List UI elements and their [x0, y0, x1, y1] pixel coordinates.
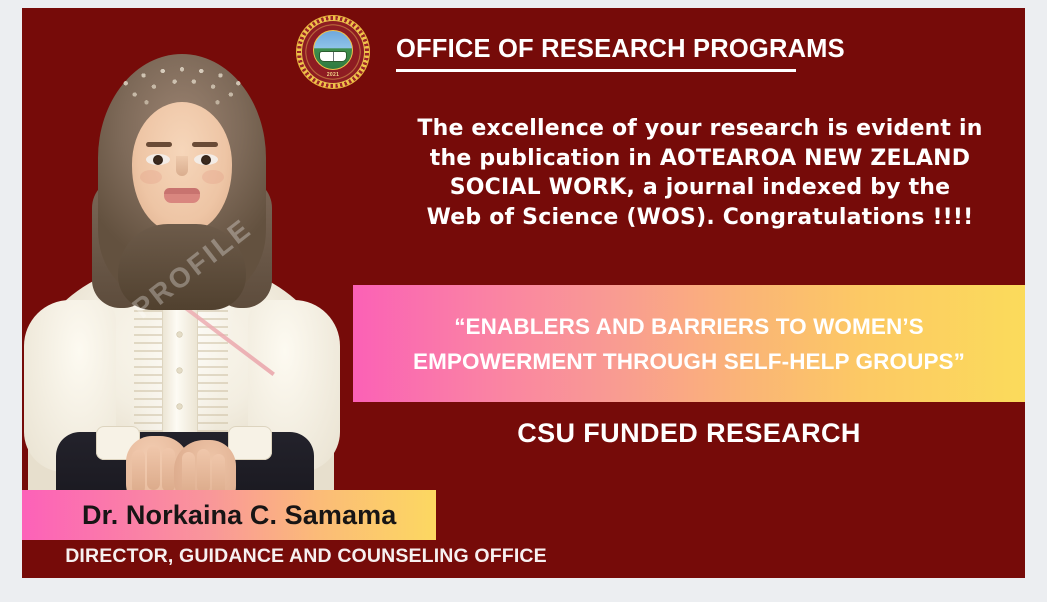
- cheek-left: [140, 170, 162, 184]
- poster-header: 2021 OFFICE OF RESEARCH PROGRAMS: [296, 12, 916, 92]
- honoree-role: DIRECTOR, GUIDANCE AND COUNSELING OFFICE: [26, 545, 586, 568]
- message-line-3: SOCIAL WORK, a journal indexed by the: [390, 173, 1010, 203]
- header-title-wrap: OFFICE OF RESEARCH PROGRAMS: [396, 33, 845, 72]
- nose-shape: [176, 156, 188, 176]
- hijab-beaded-band: [108, 62, 256, 118]
- blouse-button: [177, 332, 182, 337]
- research-title-line-1: “ENABLERS AND BARRIERS TO WOMEN’S: [413, 309, 965, 344]
- congratulatory-message: The excellence of your research is evide…: [390, 114, 1010, 232]
- hijab-chin-wrap: [118, 224, 246, 310]
- honoree-name-banner: Dr. Norkaina C. Samama: [22, 490, 436, 540]
- message-line-4: Web of Science (WOS). Congratulations !!…: [390, 203, 1010, 233]
- honoree-name: Dr. Norkaina C. Samama: [82, 500, 396, 531]
- seal-year-label: 2021: [296, 72, 370, 78]
- funded-research-label: CSU FUNDED RESEARCH: [353, 418, 1025, 449]
- research-title-text: “ENABLERS AND BARRIERS TO WOMEN’S EMPOWE…: [391, 309, 987, 379]
- cheek-right: [202, 170, 224, 184]
- blouse-button: [177, 404, 182, 409]
- message-line-1: The excellence of your research is evide…: [390, 114, 1010, 144]
- title-underline: [396, 69, 796, 72]
- research-title-line-2: EMPOWERMENT THROUGH SELF-HELP GROUPS”: [413, 344, 965, 379]
- university-seal-icon: 2021: [296, 15, 370, 89]
- honoree-photo: PROFILE: [22, 28, 340, 534]
- office-title: OFFICE OF RESEARCH PROGRAMS: [396, 35, 845, 64]
- right-cuff: [228, 426, 272, 460]
- blouse-button: [177, 368, 182, 373]
- lower-lip: [164, 194, 200, 203]
- research-title-banner: “ENABLERS AND BARRIERS TO WOMEN’S EMPOWE…: [353, 285, 1025, 402]
- congratulations-poster: PROFILE 2021 OFFICE OF RESEARCH PROGRAMS: [22, 8, 1025, 578]
- message-line-2: the publication in AOTEAROA NEW ZELAND: [390, 144, 1010, 174]
- screenshot-canvas: PROFILE 2021 OFFICE OF RESEARCH PROGRAMS: [0, 0, 1047, 602]
